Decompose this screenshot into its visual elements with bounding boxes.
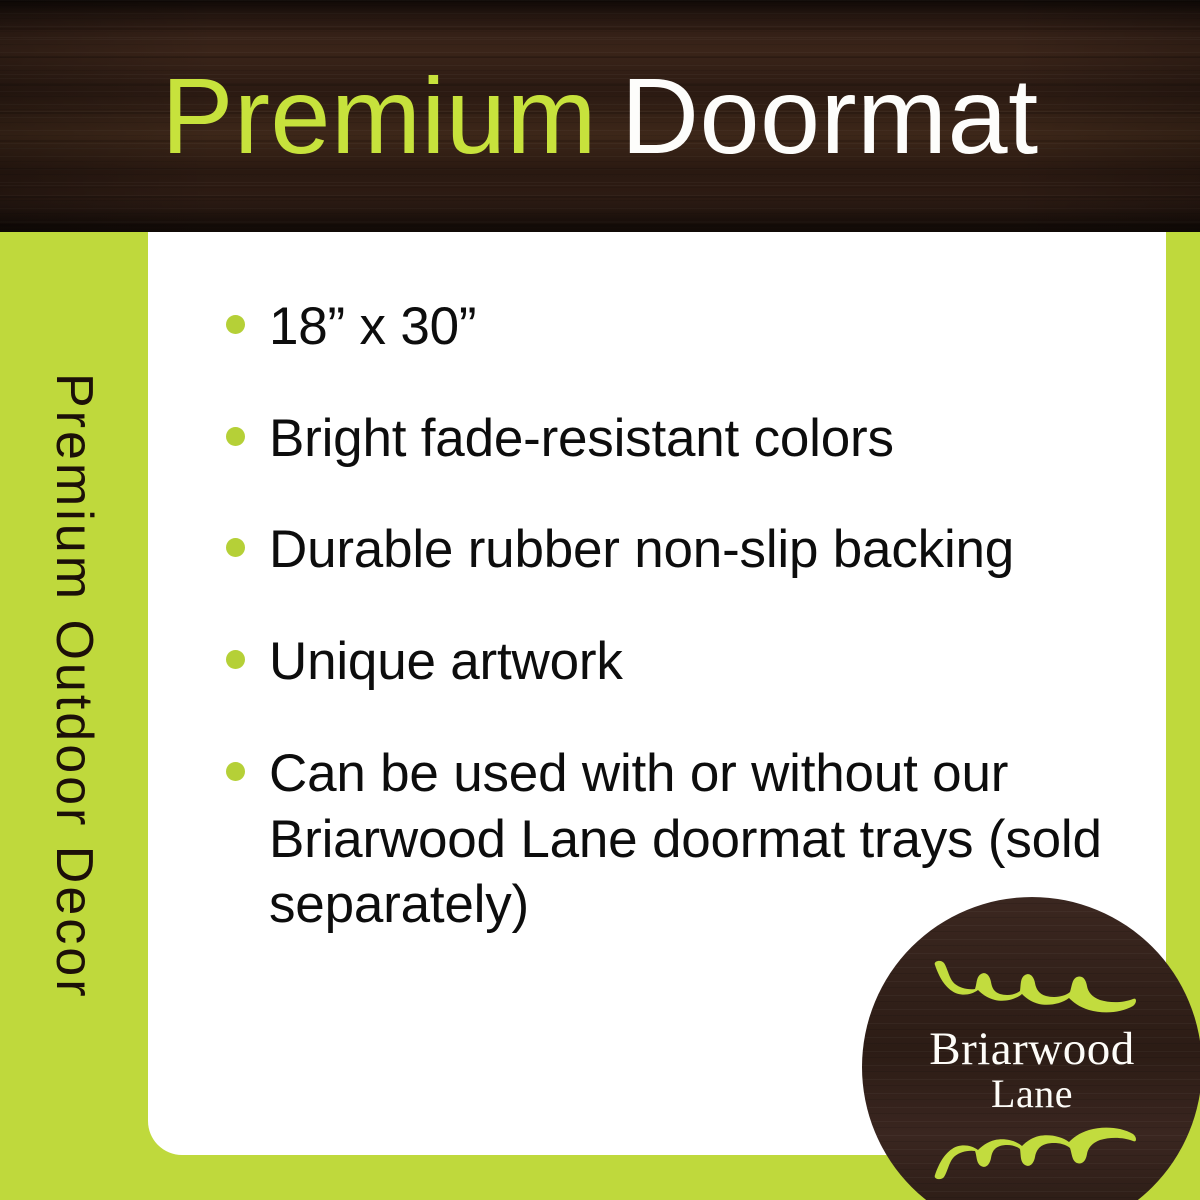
list-item: Unique artwork [226, 629, 1146, 695]
feature-list: 18” x 30” Bright fade-resistant colors D… [226, 294, 1146, 984]
page-title-plain: Doormat [621, 62, 1039, 170]
list-item: 18” x 30” [226, 294, 1146, 360]
feature-text: 18” x 30” [269, 294, 476, 360]
feature-text: Durable rubber non-slip backing [269, 517, 1014, 583]
list-item: Durable rubber non-slip backing [226, 517, 1146, 583]
brand-logo-badge: Briarwood Lane [862, 897, 1200, 1200]
leaf-branch-icon [927, 1123, 1137, 1181]
bullet-dot-icon [226, 762, 245, 781]
bullet-dot-icon [226, 538, 245, 557]
feature-text: Bright fade-resistant colors [269, 406, 894, 472]
brand-subname: Lane [991, 1074, 1073, 1114]
bullet-dot-icon [226, 427, 245, 446]
brand-logo-content: Briarwood Lane [862, 897, 1200, 1200]
product-infographic: Premium Doormat Premium Outdoor Decor 18… [0, 0, 1200, 1200]
sidebar-label: Premium Outdoor Decor [0, 232, 148, 1200]
bullet-dot-icon [226, 315, 245, 334]
page-title: Premium Doormat [0, 0, 1200, 232]
page-title-accent: Premium [161, 62, 597, 170]
bullet-dot-icon [226, 650, 245, 669]
leaf-branch-icon [927, 959, 1137, 1017]
brand-name: Briarwood [929, 1026, 1135, 1073]
sidebar-label-text: Premium Outdoor Decor [48, 373, 100, 1060]
feature-text: Unique artwork [269, 629, 623, 695]
list-item: Bright fade-resistant colors [226, 406, 1146, 472]
header-banner: Premium Doormat [0, 0, 1200, 232]
